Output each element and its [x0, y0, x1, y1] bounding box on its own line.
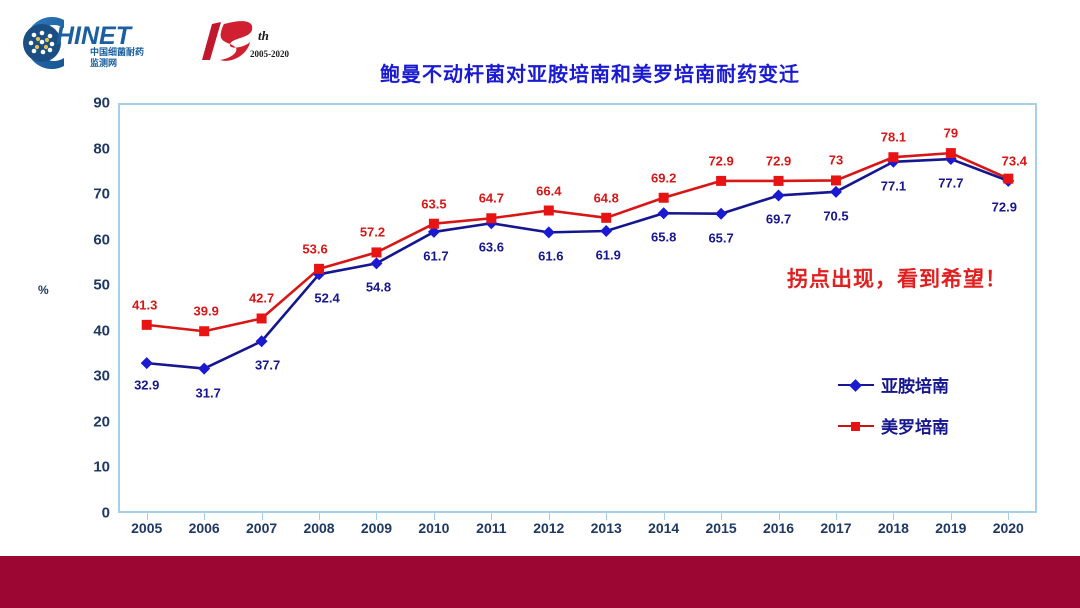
anniversary-logo: th 2005-2020 [188, 14, 303, 70]
x-axis-tick-label: 2015 [706, 520, 737, 536]
data-point-marker [715, 208, 727, 220]
x-axis-tick-label: 2020 [993, 520, 1024, 536]
chart-series-layer [118, 103, 1037, 513]
data-point-marker [486, 213, 496, 223]
svg-text:中国细菌耐药: 中国细菌耐药 [90, 46, 144, 57]
svg-text:th: th [258, 28, 269, 43]
x-axis-tick-label: 2018 [878, 520, 909, 536]
x-axis-tick-label: 2006 [189, 520, 220, 536]
x-axis-tick-label: 2011 [476, 520, 506, 536]
x-axis-tick-label: 2009 [361, 520, 392, 536]
data-point-marker [543, 226, 555, 238]
data-point-marker [601, 213, 611, 223]
x-axis-tick [491, 513, 492, 520]
x-axis-tick [147, 513, 148, 520]
x-axis-tick [434, 513, 435, 520]
y-axis-tick-label: 60 [93, 231, 110, 248]
x-axis-tick-label: 2017 [820, 520, 851, 536]
x-axis-tick-label: 2019 [935, 520, 966, 536]
chart-annotation: 拐点出现，看到希望！ [787, 263, 1007, 293]
y-axis-tick-label: 0 [102, 505, 110, 522]
data-point-marker [888, 152, 898, 162]
y-axis-tick-label: 80 [93, 140, 110, 157]
series-line-meropenem [147, 153, 1009, 331]
x-axis-tick [664, 513, 665, 520]
x-axis-tick [951, 513, 952, 520]
data-point-marker [198, 363, 210, 375]
page-title: 鲍曼不动杆菌对亚胺培南和美罗培南耐药变迁 [330, 58, 850, 87]
data-point-marker [716, 176, 726, 186]
y-axis-title: % [38, 283, 49, 297]
data-point-marker [142, 320, 152, 330]
x-axis-tick [1008, 513, 1009, 520]
svg-text:2005-2020: 2005-2020 [250, 49, 289, 59]
legend-label-meropenem: 美罗培南 [881, 413, 949, 438]
x-axis-tick-label: 2005 [131, 520, 162, 536]
data-point-marker [946, 148, 956, 158]
bottom-bar [0, 556, 1080, 608]
legend-item-imipenem[interactable]: 亚胺培南 [838, 372, 949, 397]
data-point-marker [830, 186, 842, 198]
data-point-marker [371, 247, 381, 257]
chinet-logo: HINET 中国细菌耐药 监测网 [12, 14, 172, 72]
x-axis-tick [606, 513, 607, 520]
data-point-marker [141, 357, 153, 369]
x-axis-tick [204, 513, 205, 520]
data-point-marker [600, 225, 612, 237]
x-axis-tick [376, 513, 377, 520]
x-axis-tick [549, 513, 550, 520]
slide-root: HINET 中国细菌耐药 监测网 th 2005-2020 鲍曼不动杆菌对亚胺培… [0, 0, 1080, 608]
data-point-marker [429, 219, 439, 229]
legend-label-imipenem: 亚胺培南 [881, 372, 949, 397]
data-point-marker [659, 193, 669, 203]
y-axis-tick-label: 50 [93, 277, 110, 294]
data-point-marker [774, 176, 784, 186]
y-axis-tick-label: 20 [93, 413, 110, 430]
x-axis-tick-label: 2008 [303, 520, 334, 536]
svg-text:HINET: HINET [56, 22, 134, 50]
data-point-marker [257, 313, 267, 323]
x-axis-tick-label: 2013 [591, 520, 622, 536]
legend-marker-square-icon [838, 419, 874, 433]
x-axis-tick [319, 513, 320, 520]
x-axis-tick-label: 2016 [763, 520, 794, 536]
y-axis-tick-label: 40 [93, 322, 110, 339]
legend-marker-diamond-icon [838, 378, 874, 392]
svg-text:监测网: 监测网 [90, 57, 117, 68]
data-point-marker [544, 206, 554, 216]
x-axis-tick [779, 513, 780, 520]
data-point-marker [314, 264, 324, 274]
y-axis-labels: 0102030405060708090 [58, 96, 110, 520]
data-point-marker [658, 207, 670, 219]
x-axis-tick-label: 2014 [648, 520, 679, 536]
x-axis-tick [262, 513, 263, 520]
x-axis-tick [721, 513, 722, 520]
y-axis-tick-label: 90 [93, 95, 110, 112]
chart-legend: 亚胺培南 美罗培南 [838, 372, 949, 438]
y-axis-tick-label: 30 [93, 368, 110, 385]
data-point-marker [1003, 174, 1013, 184]
legend-item-meropenem[interactable]: 美罗培南 [838, 413, 949, 438]
x-axis-tick-label: 2012 [533, 520, 564, 536]
slide-header: HINET 中国细菌耐药 监测网 th 2005-2020 鲍曼不动杆菌对亚胺培… [0, 0, 1080, 92]
x-axis-tick-label: 2007 [246, 520, 277, 536]
x-axis-tick-label: 2010 [418, 520, 449, 536]
x-axis-labels: 2005200620072008200920102011201220132014… [118, 520, 1037, 546]
x-axis-tick [893, 513, 894, 520]
data-point-marker [370, 257, 382, 269]
data-point-marker [773, 189, 785, 201]
y-axis-tick-label: 10 [93, 459, 110, 476]
data-point-marker [831, 175, 841, 185]
y-axis-tick-label: 70 [93, 186, 110, 203]
data-point-marker [199, 326, 209, 336]
x-axis-tick [836, 513, 837, 520]
